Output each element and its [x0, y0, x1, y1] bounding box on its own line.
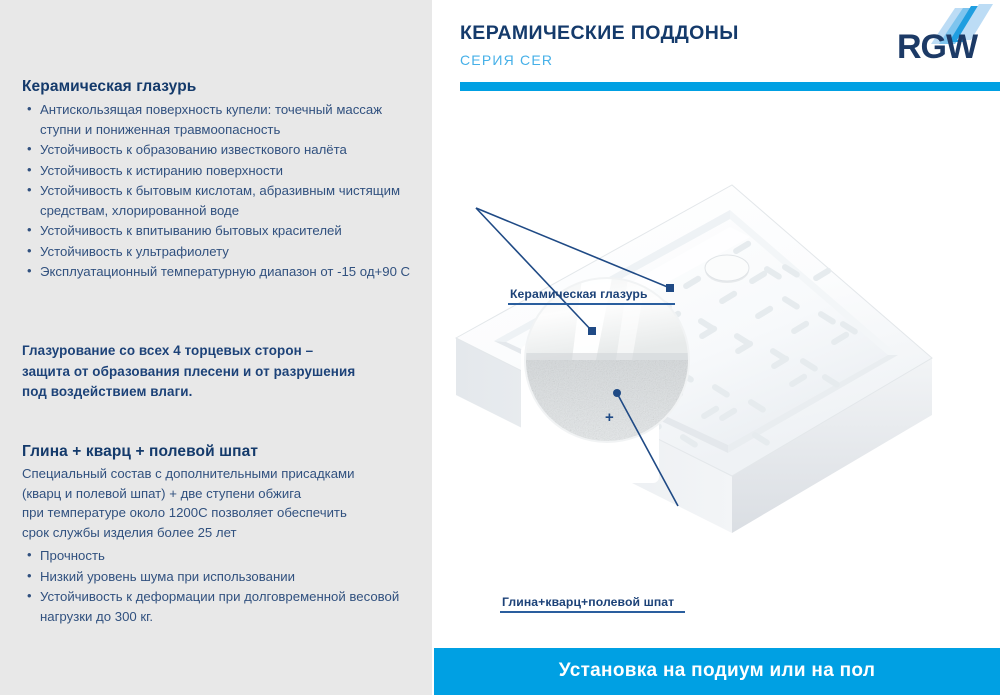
callout-clay-label: Глина+кварц+полевой шпат	[498, 595, 685, 611]
section-edge-glazing: Глазурование со всех 4 торцевых сторон –…	[22, 341, 422, 403]
header-accent-rule	[460, 82, 1000, 91]
callout-ceramic-glaze: Керамическая глазурь	[506, 287, 675, 305]
clay-line-3: при температуре около 1200С позволяет об…	[22, 503, 422, 523]
clay-line-4: срок службы изделия более 25 лет	[22, 523, 422, 543]
callout-clay-underline	[500, 611, 685, 613]
footer-banner: Установка на подиум или на пол	[434, 648, 1000, 695]
footer-banner-text: Установка на подиум или на пол	[434, 660, 1000, 682]
plus-icon: +	[605, 410, 614, 425]
list-item: Низкий уровень шума при использовании	[22, 567, 422, 587]
clay-line-2: (кварц и полевой шпат) + две ступени обж…	[22, 484, 422, 504]
left-info-panel: Керамическая глазурь Антискользящая пове…	[0, 0, 432, 695]
clay-paragraph: Специальный состав с дополнительными при…	[22, 464, 422, 542]
edge-glazing-line-3: под воздействием влаги.	[22, 382, 422, 403]
list-item: Прочность	[22, 546, 422, 566]
section-heading-clay: Глина + кварц + полевой шпат	[22, 443, 422, 461]
list-item: Устойчивость к истиранию поверхности	[22, 161, 422, 181]
bullet-list-clay: Прочность Низкий уровень шума при исполь…	[22, 546, 422, 626]
callout-clay-quartz-feldspar: Глина+кварц+полевой шпат	[498, 595, 685, 613]
list-item: Устойчивость к бытовым кислотам, абразив…	[22, 181, 422, 220]
clay-line-1: Специальный состав с дополнительными при…	[22, 464, 422, 484]
list-item: Устойчивость к образованию известкового …	[22, 140, 422, 160]
callout-ceramic-glaze-underline	[508, 303, 675, 305]
list-item: Устойчивость к впитыванию бытовых красит…	[22, 221, 422, 241]
page-root: Керамическая глазурь Антискользящая пове…	[0, 0, 1000, 695]
rgw-logo-mark: RGW	[893, 4, 993, 66]
rgw-logo: RGW	[893, 4, 993, 66]
rgw-logo-text: RGW	[897, 28, 979, 66]
leader-endpoint-marker-glaze-section	[588, 327, 596, 335]
list-item: Устойчивость к ультрафиолету	[22, 242, 422, 262]
shower-tray-illustration	[432, 95, 1000, 640]
page-subtitle: СЕРИЯ CER	[460, 52, 553, 68]
bullet-list-glaze: Антискользящая поверхность купели: точеч…	[22, 100, 422, 282]
edge-glazing-line-1: Глазурование со всех 4 торцевых сторон –	[22, 341, 422, 362]
edge-glazing-line-2: защита от образования плесени и от разру…	[22, 362, 422, 383]
drain-hole-rim	[705, 255, 749, 281]
section-clay-quartz-feldspar: Глина + кварц + полевой шпат Специальный…	[22, 443, 422, 627]
product-illustration-stage: Керамическая глазурь Глина+кварц+полевой…	[432, 95, 1000, 640]
list-item: Устойчивость к деформации при долговреме…	[22, 587, 422, 626]
leader-endpoint-marker-clay	[613, 389, 621, 397]
list-item: Эксплуатационный температурную диапазон …	[22, 262, 422, 282]
callout-ceramic-glaze-label: Керамическая глазурь	[506, 287, 675, 303]
page-title: КЕРАМИЧЕСКИЕ ПОДДОНЫ	[460, 22, 739, 45]
section-ceramic-glaze: Керамическая глазурь Антискользящая пове…	[22, 78, 422, 283]
section-heading-glaze: Керамическая глазурь	[22, 78, 422, 96]
list-item: Антискользящая поверхность купели: точеч…	[22, 100, 422, 139]
